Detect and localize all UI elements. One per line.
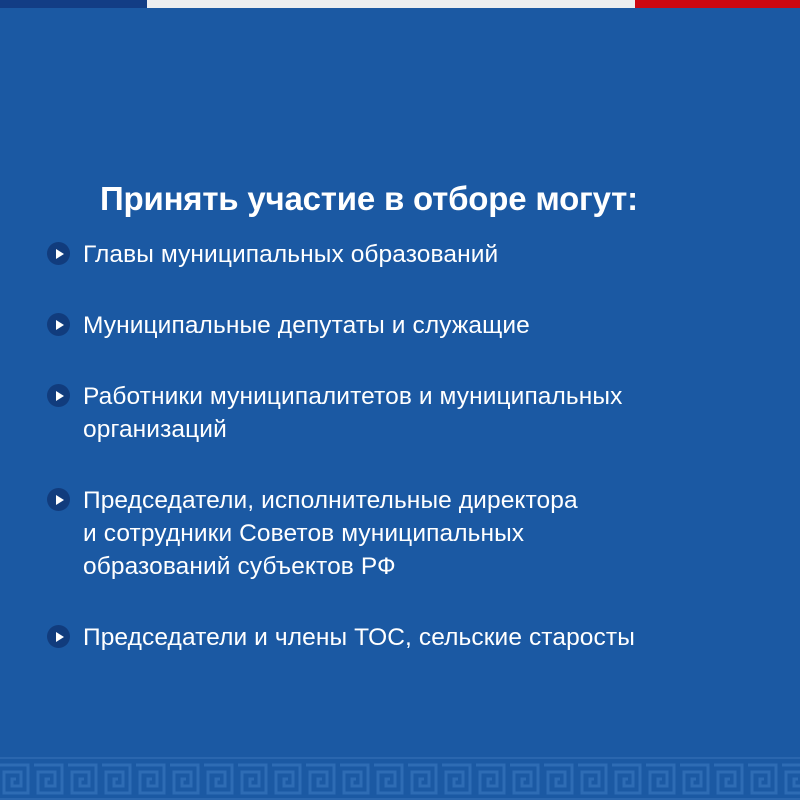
slide-root: Принять участие в отборе могут: Главы му… [0,0,800,800]
list-item-label: Работники муниципалитетов и муниципальны… [83,380,623,446]
list-item: Главы муниципальных образований [47,238,777,271]
list-item-label: Председатели, исполнительные директора и… [83,484,578,583]
play-triangle-icon [47,488,70,511]
page-title: Принять участие в отборе могут: [100,180,720,218]
list-item: Работники муниципалитетов и муниципальны… [47,380,777,446]
russian-tricolor-stripe [0,0,800,8]
flag-segment-red [635,0,800,8]
play-triangle-icon [47,384,70,407]
list-item-label: Председатели и члены ТОС, сельские старо… [83,621,635,654]
list-item: Председатели, исполнительные директора и… [47,484,777,583]
flag-segment-white [147,0,635,8]
list-item: Муниципальные депутаты и служащие [47,309,777,342]
greek-key-meander-pattern [0,757,800,800]
list-item-label: Муниципальные депутаты и служащие [83,309,530,342]
list-item: Председатели и члены ТОС, сельские старо… [47,621,777,654]
eligibility-list: Главы муниципальных образований Муниципа… [47,238,777,654]
list-item-label: Главы муниципальных образований [83,238,498,271]
play-triangle-icon [47,625,70,648]
play-triangle-icon [47,313,70,336]
flag-segment-blue [0,0,147,8]
play-triangle-icon [47,242,70,265]
